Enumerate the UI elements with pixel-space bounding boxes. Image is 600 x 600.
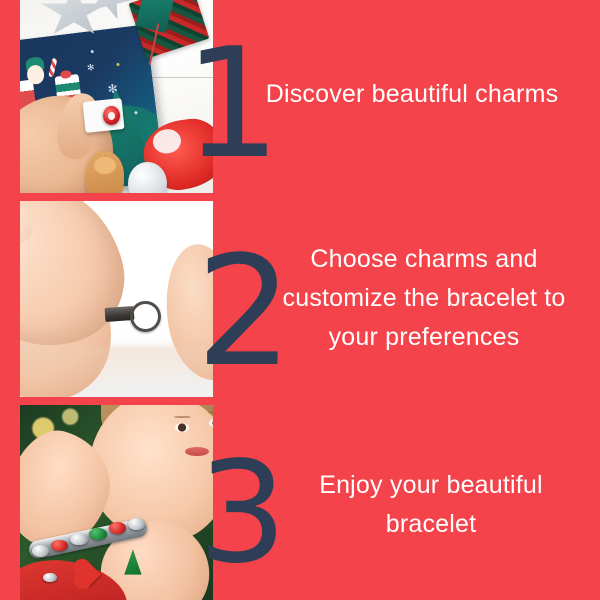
red-bead [109,522,126,534]
silver-charm [43,573,57,583]
star-dot [90,50,93,53]
snowflake-icon: ✻ [107,82,118,95]
step-3-text: Enjoy your beautiful bracelet [278,466,584,544]
step-2-photo [20,201,213,397]
star-dot [116,62,119,65]
snowflake-icon: ✻ [86,62,95,72]
fingernail [20,201,38,249]
green-bead [89,528,106,540]
clasp-assembly-scene [20,201,213,397]
eyebrow [208,411,213,414]
promo-poster: ✻ ✻ ✻ ✻ 1 Discover beauti [0,0,600,600]
eye [175,423,189,432]
step-1-text: Discover beautiful charms [236,78,588,110]
star-dot [134,111,137,114]
step-2-text: Choose charms and customize the bracelet… [258,240,590,357]
candy-cane-art [48,58,57,78]
step-3-photo [20,405,213,600]
step-3-numeral: 3 [198,444,285,584]
eye [209,419,213,428]
silver-bauble [128,162,167,193]
eyebrow [174,416,191,419]
surface-reflection [20,346,213,397]
silver-bead [70,534,87,546]
silver-bead [32,545,49,557]
silver-bead [128,518,145,530]
girl-wearing-bracelet-scene [20,405,213,600]
gingerbread-man [86,151,125,193]
